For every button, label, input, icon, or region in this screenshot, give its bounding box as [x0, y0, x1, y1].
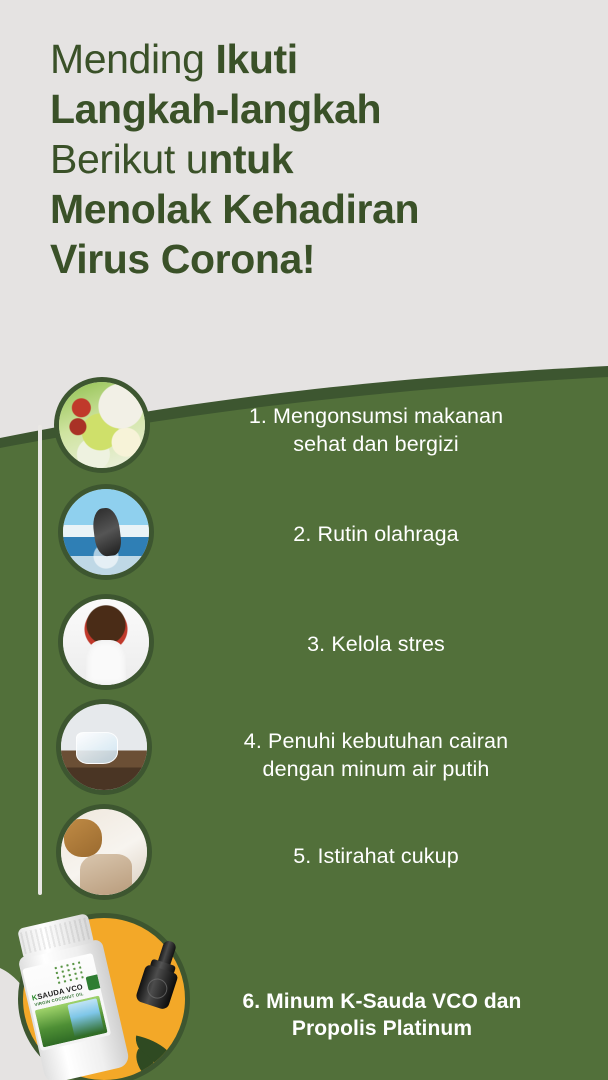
step-6-label: 6. Minum K-Sauda VCO danPropolis Platinu…: [176, 988, 588, 1043]
timeline-vertical-rule: [38, 425, 42, 895]
heading-line-3: Berikut untuk: [50, 134, 570, 184]
step-3-label: 3. Kelola stres: [176, 631, 576, 659]
sleeping-woman-photo: [61, 809, 147, 895]
step-4-thumbnail: [56, 699, 152, 795]
heading-line-1-light: Mending: [50, 36, 215, 82]
heading-line-3-bold: ntuk: [208, 136, 293, 182]
heading-line-1-bold: Ikuti: [215, 36, 297, 82]
step-5-label: 5. Istirahat cukup: [176, 843, 576, 871]
step-4-label: 4. Penuhi kebutuhan cairandengan minum a…: [176, 728, 576, 784]
heading-line-2: Langkah-langkah: [50, 84, 570, 134]
step-1-thumbnail: [54, 377, 150, 473]
step-2-thumbnail: [58, 484, 154, 580]
step-5-thumbnail: [56, 804, 152, 900]
running-exercise-photo: [63, 489, 149, 575]
heading-line-1: Mending Ikuti: [50, 34, 570, 84]
infographic-poster: Mending Ikuti Langkah-langkah Berikut un…: [0, 0, 608, 1080]
step-2-label: 2. Rutin olahraga: [176, 521, 576, 549]
pouring-water-photo: [61, 704, 147, 790]
page-title: Mending Ikuti Langkah-langkah Berikut un…: [50, 34, 570, 284]
heading-line-4: Menolak Kehadiran: [50, 184, 570, 234]
heading-line-3-light: Berikut u: [50, 136, 208, 182]
step-3-thumbnail: [58, 594, 154, 690]
woman-hugging-self-photo: [63, 599, 149, 685]
step-1-label: 1. Mengonsumsi makanansehat dan bergizi: [176, 403, 576, 459]
heading-line-5: Virus Corona!: [50, 234, 570, 284]
healthy-food-photo: [59, 382, 145, 468]
